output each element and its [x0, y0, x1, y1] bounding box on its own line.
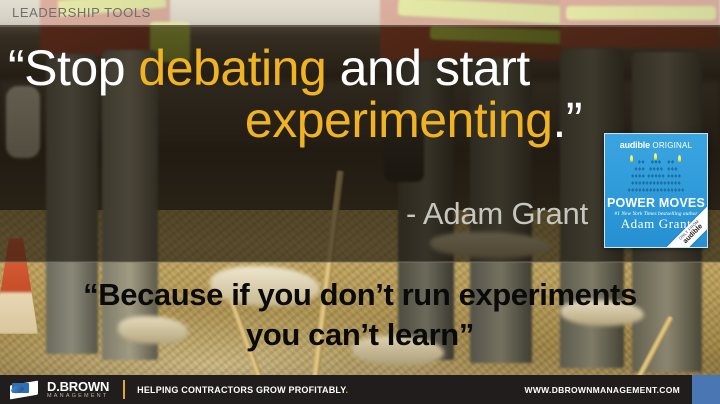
audible-brand: audible ORIGINAL	[605, 140, 707, 150]
cover-artwork: ♦♦ ♦♦♦ ♦♦ ♦♦♦ ♦♦♦♦ ♦♦♦ ♦♦♦♦ ♦♦♦♦♦ ♦♦♦♦ ♦…	[605, 153, 707, 195]
secondary-quote: “Because if you don’t run experiments yo…	[0, 275, 720, 354]
book-title: POWER MOVES	[605, 196, 707, 210]
footer-accent-block	[692, 375, 720, 404]
audible-original-label: ORIGINAL	[652, 141, 692, 150]
cover-torch-icon-2	[654, 153, 657, 160]
main-quote-highlight-1: debating	[138, 40, 326, 96]
footer-divider	[123, 380, 125, 399]
cover-crowd-row-1: ♦♦ ♦♦♦ ♦♦	[605, 160, 707, 165]
secondary-quote-line-1: “Because if you don’t run experiments	[0, 275, 720, 315]
main-quote-text-2: and start	[326, 40, 529, 96]
quote-attribution: - Adam Grant	[0, 196, 588, 232]
dbrown-logo-text: D.BROWN MANAGEMENT	[47, 380, 109, 400]
cover-crowd-row-2: ♦♦♦ ♦♦♦♦ ♦♦♦	[605, 167, 707, 172]
overlay-bottom-divider	[0, 261, 720, 263]
footer-tagline: HELPING CONTRACTORS GROW PROFITABLY.	[137, 385, 348, 395]
main-quote-line-2: experimenting.”	[8, 94, 588, 146]
footer-website-url[interactable]: WWW.DBROWNMANAGEMENT.COM	[525, 385, 680, 395]
slide: LEADERSHIP TOOLS “Stop debating and star…	[0, 0, 720, 404]
footer-tagline-text: HELPING CONTRACTORS GROW PROFITABLY	[137, 385, 345, 395]
dbrown-logo-icon	[10, 381, 40, 399]
audiobook-cover[interactable]: audible ORIGINAL ♦♦ ♦♦♦ ♦♦ ♦♦♦ ♦♦♦♦ ♦♦♦ …	[604, 133, 708, 248]
header-bar: LEADERSHIP TOOLS	[0, 0, 720, 25]
header-title: LEADERSHIP TOOLS	[12, 5, 151, 20]
secondary-quote-line-2: you can’t learn”	[0, 315, 720, 355]
main-quote-line-1: “Stop debating and start	[8, 42, 588, 94]
cover-crowd-row-3: ♦♦♦♦ ♦♦♦♦♦ ♦♦♦♦	[605, 174, 707, 179]
footer-bar: D.BROWN MANAGEMENT HELPING CONTRACTORS G…	[0, 375, 720, 404]
logo-company-name: D.BROWN	[47, 380, 109, 393]
main-quote-highlight-2: experimenting	[245, 92, 553, 148]
cover-crowd-row-5: ♦♦♦♦♦♦♦♦♦♦♦♦♦♦♦♦	[605, 188, 707, 193]
footer-tagline-dot: .	[346, 385, 349, 395]
main-quote-text-1: “Stop	[8, 40, 138, 96]
main-quote: “Stop debating and start experimenting.”	[8, 42, 588, 146]
overlay-top-divider	[0, 25, 720, 27]
cover-crowd-row-4: ♦♦♦♦♦♦♦♦♦♦♦♦♦♦	[605, 181, 707, 186]
main-quote-tail: .”	[552, 92, 582, 148]
logo-company-subtitle: MANAGEMENT	[47, 394, 109, 400]
audible-wordmark: audible	[620, 140, 650, 150]
